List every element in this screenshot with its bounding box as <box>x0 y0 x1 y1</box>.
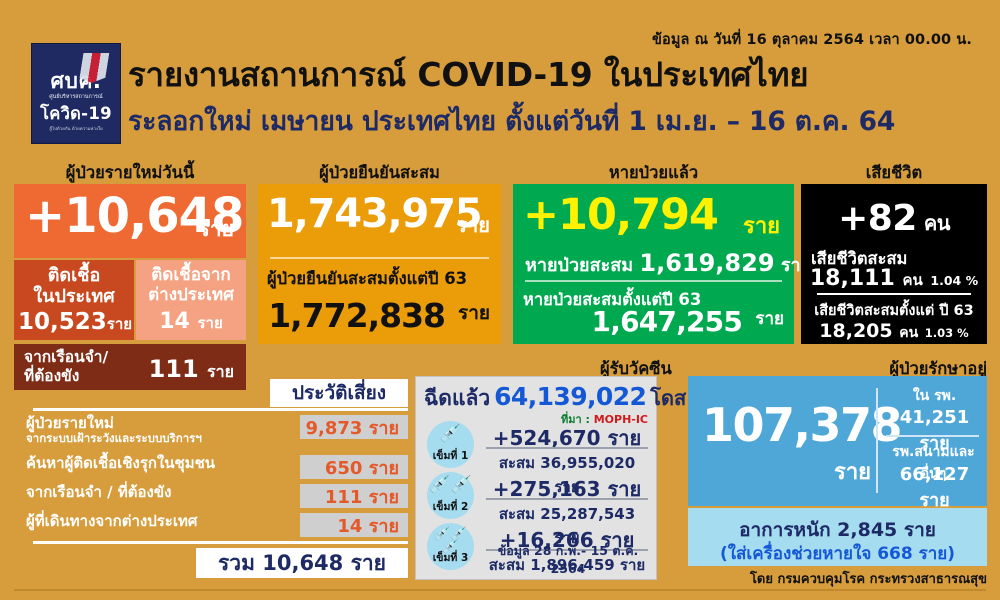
treating-value: 107,378 <box>702 398 901 452</box>
cumulative-value: 1,743,975 <box>267 191 481 237</box>
risk-history-top-rule <box>33 408 408 411</box>
risk-history-bottom-rule <box>33 541 408 544</box>
risk-row-value: 9,873 ราย <box>300 415 408 439</box>
prison-cases-panel: จากเรือนจำ/ที่ต้องขัง 111 ราย <box>14 344 246 390</box>
foreign-cases-panel: ติดเชื้อจากต่างประเทศ 14 ราย <box>136 260 246 340</box>
risk-history-caption: ประวัติเสี่ยง <box>270 379 408 407</box>
recovered-caption: หายป่วยแล้ว <box>513 160 794 186</box>
recovered-divider <box>525 280 782 282</box>
vaccine-injected-label: ฉีดแล้ว <box>424 386 490 410</box>
new-cases-panel: +10,648 ราย <box>14 184 246 258</box>
ccsa-logo: ศบค. ศูนย์บริหารสถานการณ์ โควิด-19 สู้ไป… <box>31 43 121 144</box>
syringe-2-icon: 💉💉 <box>427 477 474 494</box>
recovered-total-row: หายป่วยสะสม 1,619,829 ราย <box>525 249 784 279</box>
dose-1-daily: +524,670 ราย <box>486 422 648 454</box>
credit-text: โดย กรมควบคุมโรค กระทรวงสาธารณสุข <box>750 568 987 589</box>
dose-1-badge: 💉 เข็มที่ 1 <box>427 421 474 468</box>
thai-flag-ribbon-icon <box>79 53 110 83</box>
deaths-caption: เสียชีวิต <box>801 160 987 186</box>
deaths-panel: +82คน เสียชีวิตสะสม 18,111 คน 1.04 % เสี… <box>801 184 987 344</box>
recovered-since-unit: ราย <box>755 305 784 332</box>
treating-vertical-divider <box>876 388 878 493</box>
treating-panel: 107,378 ราย ใน รพ. 41,251 ราย รพ.สนามและ… <box>688 376 987 506</box>
dose-2-daily: +275,163 ราย <box>486 473 648 505</box>
new-cases-caption: ผู้ป่วยรายใหม่วันนี้ <box>14 160 246 186</box>
recovered-panel: +10,794 ราย หายป่วยสะสม 1,619,829 ราย หา… <box>513 184 794 344</box>
cumulative-since-label: ผู้ป่วยยืนยันสะสมตั้งแต่ปี 63 <box>267 266 467 292</box>
logo-line-4: สู้ไปด้วยกัน ด้วยความห่วงใย <box>49 128 103 132</box>
treating-horizontal-divider <box>886 435 979 437</box>
vaccine-injected-value: 64,139,022 <box>494 382 646 411</box>
deaths-since-value: 18,205 คน 1.03 % <box>801 320 987 344</box>
recovered-value: +10,794 <box>523 190 718 240</box>
risk-row-surveillance: ผู้ป่วยรายใหม่ จากระบบเฝ้าระวังและระบบบร… <box>14 415 408 443</box>
dose-1-rule <box>486 447 648 449</box>
dose-2-rule <box>486 498 648 500</box>
risk-row-label: ผู้ที่เดินทางจากต่างประเทศ <box>26 513 197 530</box>
logo-line-2: ศูนย์บริหารสถานการณ์ <box>49 95 103 100</box>
risk-history-total: รวม 10,648 ราย <box>196 548 408 578</box>
page-subtitle: ระลอกใหม่ เมษายน ประเทศไทย ตั้งแต่วันที่… <box>128 100 895 142</box>
vaccine-panel: ฉีดแล้ว64,139,022โดส ที่มา : MOPH-IC 💉 เ… <box>415 376 657 580</box>
risk-row-value: 14 ราย <box>300 513 408 537</box>
risk-row-label: จากเรือนจำ / ที่ต้องขัง <box>26 484 171 501</box>
risk-row-label: ค้นหาผู้ติดเชื้อเชิงรุกในชุมชน <box>26 455 215 472</box>
cumulative-caption: ผู้ป่วยยืนยันสะสม <box>258 160 501 186</box>
severe-cases-panel: อาการหนัก 2,845 ราย (ใส่เครื่องช่วยหายใจ… <box>688 508 987 566</box>
deaths-since-label: เสียชีวิตสะสมตั้งแต่ ปี 63 <box>801 299 987 322</box>
domestic-cases-panel: ติดเชื้อในประเทศ 10,523ราย <box>14 260 134 340</box>
cumulative-unit: ราย <box>456 209 490 241</box>
vaccine-date-range: ข้อมูล 28 ก.พ.- 15 ต.ค. 2564 <box>486 541 650 576</box>
recovered-unit: ราย <box>743 208 780 243</box>
dose-3-badge: 💉💉💉 เข็มที่ 3 <box>427 523 474 570</box>
dashboard-root: ข้อมูล ณ วันที่ 16 ตุลาคม 2564 เวลา 00.0… <box>0 0 1000 600</box>
dose-1-label: เข็มที่ 1 <box>433 447 469 464</box>
deaths-total-value: 18,111 คน 1.04 % <box>801 266 987 292</box>
risk-row-overseas: ผู้ที่เดินทางจากต่างประเทศ 14 ราย <box>14 513 408 541</box>
domestic-cases-value: 10,523ราย <box>18 309 132 336</box>
syringe-1-icon: 💉 <box>427 426 474 443</box>
cumulative-panel: 1,743,975 ราย ผู้ป่วยยืนยันสะสมตั้งแต่ปี… <box>258 184 501 344</box>
deaths-value: +82คน <box>801 198 987 239</box>
logo-line-3: โควิด-19 <box>40 106 112 123</box>
syringe-3-icon: 💉💉💉 <box>427 528 474 554</box>
deaths-divider <box>817 293 971 295</box>
cumulative-since-value: 1,772,838 <box>268 296 445 335</box>
ventilator-cases-value: (ใส่เครื่องช่วยหายใจ 668 ราย) <box>688 540 987 567</box>
prison-cases-label: จากเรือนจำ/ที่ต้องขัง <box>24 348 108 386</box>
risk-row-label: ผู้ป่วยรายใหม่ จากระบบเฝ้าระวังและระบบบร… <box>26 415 202 445</box>
domestic-cases-label: ติดเชื้อในประเทศ <box>14 265 134 307</box>
in-hospital-label: ใน รพ. <box>888 385 981 407</box>
cumulative-since-unit: ราย <box>458 298 490 328</box>
treating-unit: ราย <box>834 454 871 489</box>
field-hospital-value: 66,127 ราย <box>888 464 981 514</box>
risk-row-prison: จากเรือนจำ / ที่ต้องขัง 111 ราย <box>14 484 408 512</box>
prison-cases-value: 111 ราย <box>149 355 234 385</box>
dose-2-label: เข็มที่ 2 <box>433 498 469 515</box>
cumulative-divider <box>270 257 489 259</box>
dose-2-badge: 💉💉 เข็มที่ 2 <box>427 472 474 519</box>
risk-row-value: 111 ราย <box>300 484 408 508</box>
vaccine-injected-unit: โดส <box>650 386 686 410</box>
recovered-since-value: 1,647,255 <box>592 305 742 338</box>
page-title: รายงานสถานการณ์ COVID-19 ในประเทศไทย <box>128 48 808 101</box>
foreign-cases-label: ติดเชื้อจากต่างประเทศ <box>136 265 246 305</box>
risk-row-active-search: ค้นหาผู้ติดเชื้อเชิงรุกในชุมชน 650 ราย <box>14 455 408 483</box>
recovered-total-value: 1,619,829 <box>639 249 774 277</box>
recovered-total-label: หายป่วยสะสม <box>525 255 633 276</box>
risk-row-value: 650 ราย <box>300 455 408 479</box>
new-cases-unit: ราย <box>199 213 234 246</box>
bottom-divider <box>14 589 986 591</box>
foreign-cases-value: 14 ราย <box>136 309 246 335</box>
